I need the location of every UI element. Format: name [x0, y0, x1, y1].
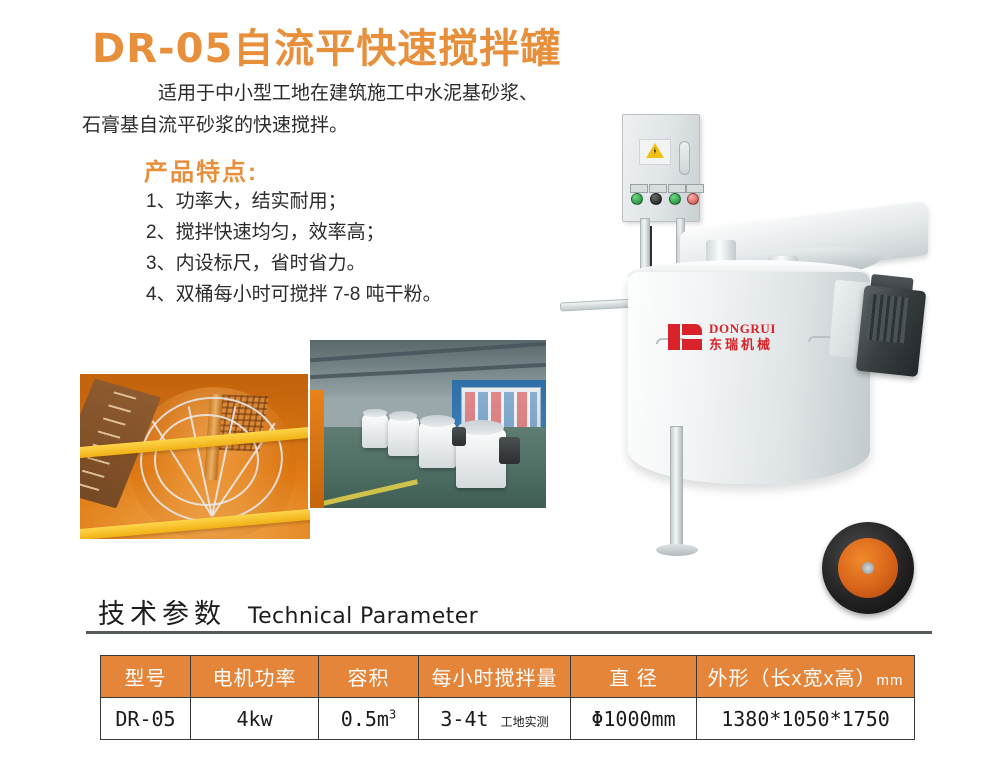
transport-wheel [822, 522, 914, 614]
table-header-row: 型号 电机功率 容积 每小时搅拌量 直 径 外形（长x宽x高）mm [101, 656, 915, 698]
drive-motor [856, 285, 927, 377]
specification-table: 型号 电机功率 容积 每小时搅拌量 直 径 外形（长x宽x高）mm DR-05 … [100, 655, 915, 740]
dongrui-brand-logo: DONGRUI 东瑞机械 [668, 322, 776, 351]
logo-mark-left-bar [668, 324, 680, 350]
header-dimension-main: 外形（长x宽x高） [708, 668, 877, 690]
feature-item-3: 3、内设标尺，省时省力。 [146, 248, 576, 279]
table-row: DR-05 4kw 0.5m3 3-4t 工地实测 Φ1000mm 1380*1… [101, 698, 915, 740]
cell-volume: 0.5m3 [319, 698, 419, 740]
dongrui-logo-mark-icon [668, 324, 702, 350]
wheel-hub [862, 562, 874, 574]
logo-mark-lower-bar [682, 339, 702, 350]
control-button-green-1 [631, 193, 643, 205]
brand-text-group: DONGRUI 东瑞机械 [709, 322, 776, 351]
cell-rate-note: 工地实测 [501, 715, 549, 729]
tech-parameter-heading: 技术参数 Technical Parameter [98, 592, 478, 631]
tech-heading-cn: 技术参数 [98, 592, 226, 631]
tech-heading-divider [86, 631, 932, 634]
cell-volume-exponent: 3 [389, 707, 396, 721]
product-machine-illustration: DONGRUI 东瑞机械 [560, 100, 990, 540]
features-heading: 产品特点: [144, 152, 258, 187]
feature-item-2: 2、搅拌快速均匀，效率高； [146, 217, 576, 248]
header-rate: 每小时搅拌量 [419, 656, 571, 698]
cell-rate: 3-4t 工地实测 [419, 698, 571, 740]
photo-factory-floor [308, 338, 548, 510]
intro-paragraph: 适用于中小型工地在建筑施工中水泥基砂浆、石膏基自流平砂浆的快速搅拌。 [82, 78, 552, 142]
control-button-red [687, 193, 699, 205]
cell-model: DR-05 [101, 698, 191, 740]
header-dimension: 外形（长x宽x高）mm [697, 656, 915, 698]
header-diameter: 直 径 [571, 656, 697, 698]
header-model: 型号 [101, 656, 191, 698]
electrical-warning-label [639, 139, 671, 165]
warning-triangle-icon [646, 143, 664, 158]
factory-mixer-motor [452, 427, 466, 445]
feature-item-4: 4、双桶每小时可搅拌 7-8 吨干粉。 [146, 279, 576, 310]
cell-power: 4kw [191, 698, 319, 740]
feature-item-1: 1、功率大，结实耐用； [146, 186, 576, 217]
header-volume: 容积 [319, 656, 419, 698]
tech-heading-en: Technical Parameter [248, 604, 478, 629]
indicator-gauge [679, 141, 690, 175]
cell-dimension: 1380*1050*1750 [697, 698, 915, 740]
support-leg [670, 426, 683, 548]
factory-mixer-unit [362, 414, 388, 448]
control-panel-box [622, 114, 700, 222]
factory-mixer-unit [419, 422, 457, 467]
features-list: 1、功率大，结实耐用； 2、搅拌快速均匀，效率高； 3、内设标尺，省时省力。 4… [146, 186, 576, 310]
factory-mixer-motor [499, 437, 520, 464]
product-datasheet-page: DR-05自流平快速搅拌罐 适用于中小型工地在建筑施工中水泥基砂浆、石膏基自流平… [0, 0, 1000, 768]
support-leg-foot [656, 544, 698, 556]
control-button-green-2 [669, 193, 681, 205]
cell-rate-value: 3-4t [440, 707, 488, 731]
logo-mark-upper-hook [682, 324, 702, 335]
cell-diameter: Φ1000mm [571, 698, 697, 740]
control-button-black [650, 193, 662, 205]
photo-drum-interior [80, 374, 310, 539]
page-title: DR-05自流平快速搅拌罐 [92, 16, 561, 74]
header-dimension-unit: mm [877, 672, 904, 689]
foreground-orange-edge [310, 390, 324, 508]
cell-volume-value: 0.5m [341, 707, 389, 731]
factory-mixer-unit [388, 417, 419, 456]
brand-name-en: DONGRUI [709, 322, 776, 335]
brand-name-cn: 东瑞机械 [709, 338, 776, 351]
header-power: 电机功率 [191, 656, 319, 698]
